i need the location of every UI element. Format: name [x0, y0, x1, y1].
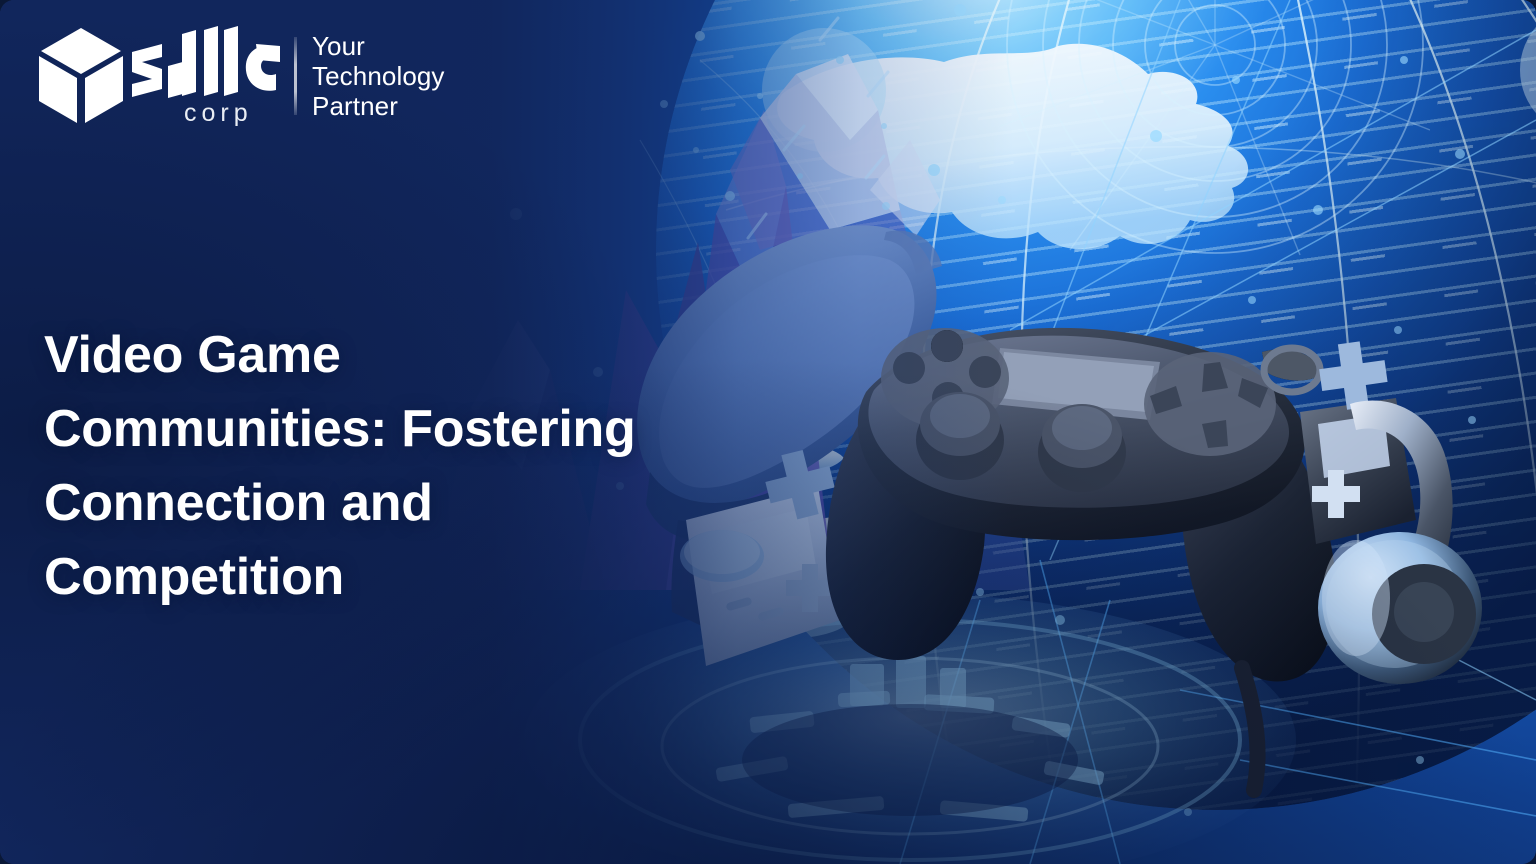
headline-line-4: Competition [44, 540, 804, 614]
blog-banner: corp Your Technology Partner Video Game … [0, 0, 1536, 864]
headline-line-1: Video Game [44, 318, 804, 392]
sdlc-wordmark: corp [128, 26, 286, 126]
headline-line-2: Communities: Fostering [44, 392, 804, 466]
sdlc-corp-logo[interactable]: corp Your Technology Partner [38, 26, 445, 126]
sdlc-cube-icon [38, 26, 124, 126]
headline-line-3: Connection and [44, 466, 804, 540]
logo-divider [294, 37, 297, 115]
page-title: Video Game Communities: Fostering Connec… [44, 318, 804, 614]
wordmark-sub: corp [184, 99, 253, 126]
logo-tagline: Your Technology Partner [312, 31, 445, 121]
